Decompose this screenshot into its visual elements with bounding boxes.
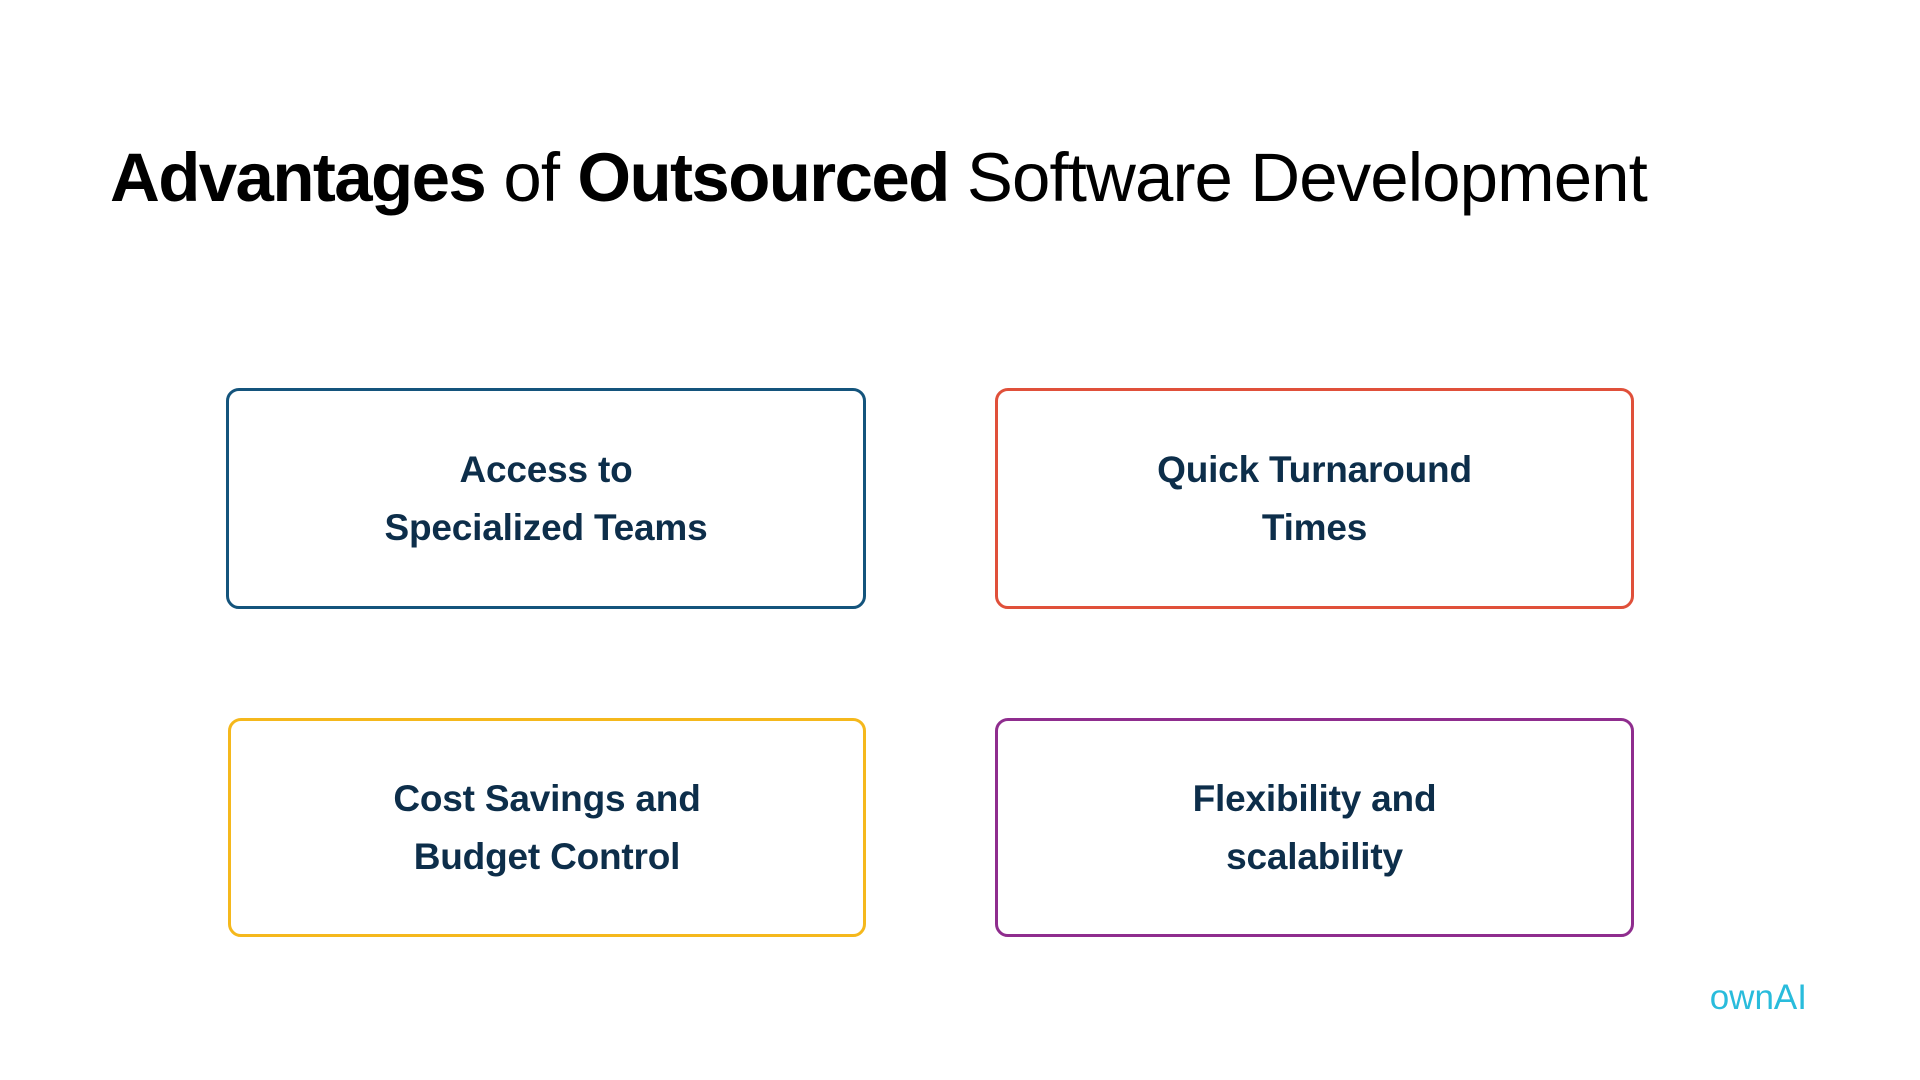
- advantage-card-label: Cost Savings and Budget Control: [375, 770, 718, 885]
- advantage-card-flexibility-and-scalability[interactable]: Flexibility and scalability: [995, 718, 1634, 937]
- title-word-software-development: Software Development: [949, 139, 1647, 216]
- advantage-card-label: Quick Turnaround Times: [1139, 441, 1490, 556]
- page-title: Advantages of Outsourced Software Develo…: [110, 134, 1670, 222]
- brand-logo-ownai: ownAI: [1710, 980, 1807, 1015]
- title-word-advantages: Advantages: [110, 139, 485, 216]
- advantage-card-label: Access to Specialized Teams: [367, 441, 726, 556]
- title-word-outsourced: Outsourced: [577, 139, 948, 216]
- slide-canvas: Advantages of Outsourced Software Develo…: [0, 0, 1920, 1080]
- advantage-card-quick-turnaround-times[interactable]: Quick Turnaround Times: [995, 388, 1634, 609]
- advantage-card-label: Flexibility and scalability: [1175, 770, 1455, 885]
- advantage-card-cost-savings-and-budget-control[interactable]: Cost Savings and Budget Control: [228, 718, 866, 937]
- title-word-of: of: [485, 139, 577, 216]
- advantage-card-access-to-specialized-teams[interactable]: Access to Specialized Teams: [226, 388, 866, 609]
